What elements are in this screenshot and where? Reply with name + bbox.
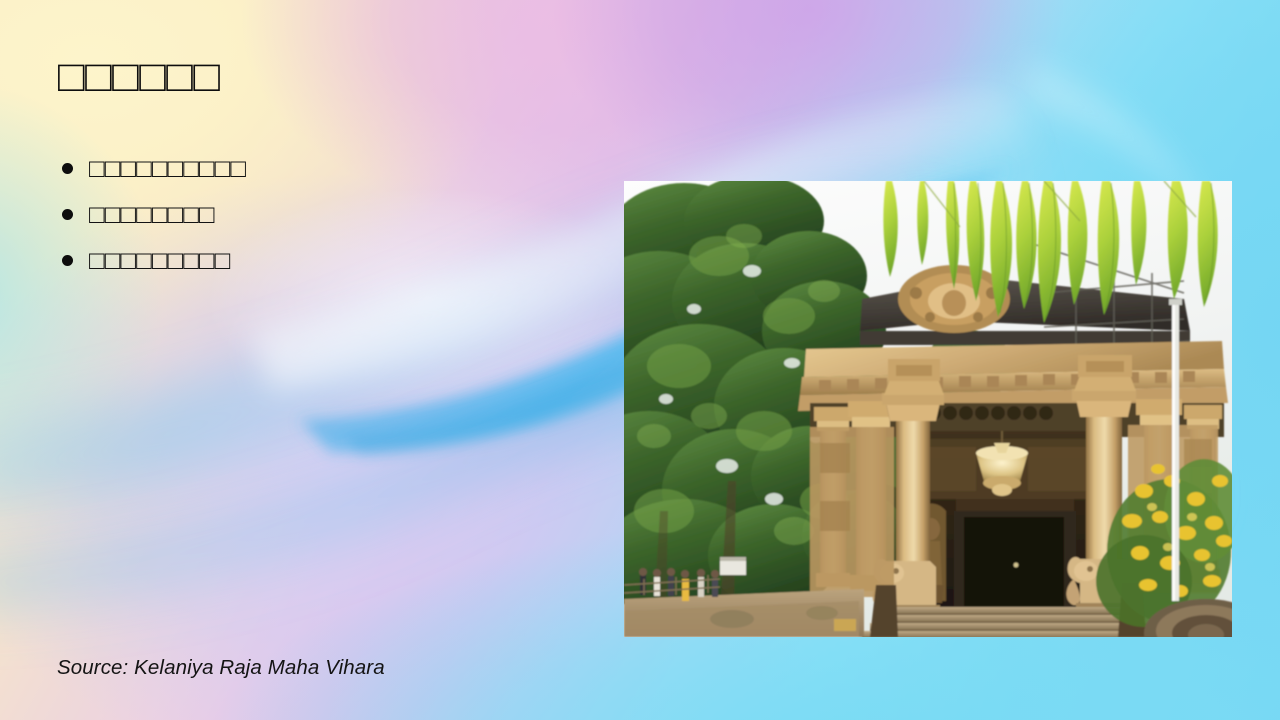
source-caption: Source: Kelaniya Raja Maha Vihara — [57, 656, 385, 680]
presentation-slide: □□□□□□ □□□□□□□□□□ □□□□□□□□ □□□□□□□□□ — [0, 0, 1280, 720]
bullet-dot-icon — [62, 209, 73, 220]
temple-photo — [624, 181, 1232, 637]
bullet-list: □□□□□□□□□□ □□□□□□□□ □□□□□□□□□ — [58, 152, 578, 289]
list-item: □□□□□□□□□ — [58, 244, 578, 277]
list-item-label: □□□□□□□□ — [89, 199, 215, 229]
bullet-dot-icon — [62, 255, 73, 266]
slide-title: □□□□□□ — [58, 52, 578, 101]
list-item: □□□□□□□□ — [58, 198, 578, 231]
list-item: □□□□□□□□□□ — [58, 152, 578, 185]
list-item-label: □□□□□□□□□□ — [89, 153, 246, 183]
bullet-dot-icon — [62, 163, 73, 174]
list-item-label: □□□□□□□□□ — [89, 245, 230, 275]
